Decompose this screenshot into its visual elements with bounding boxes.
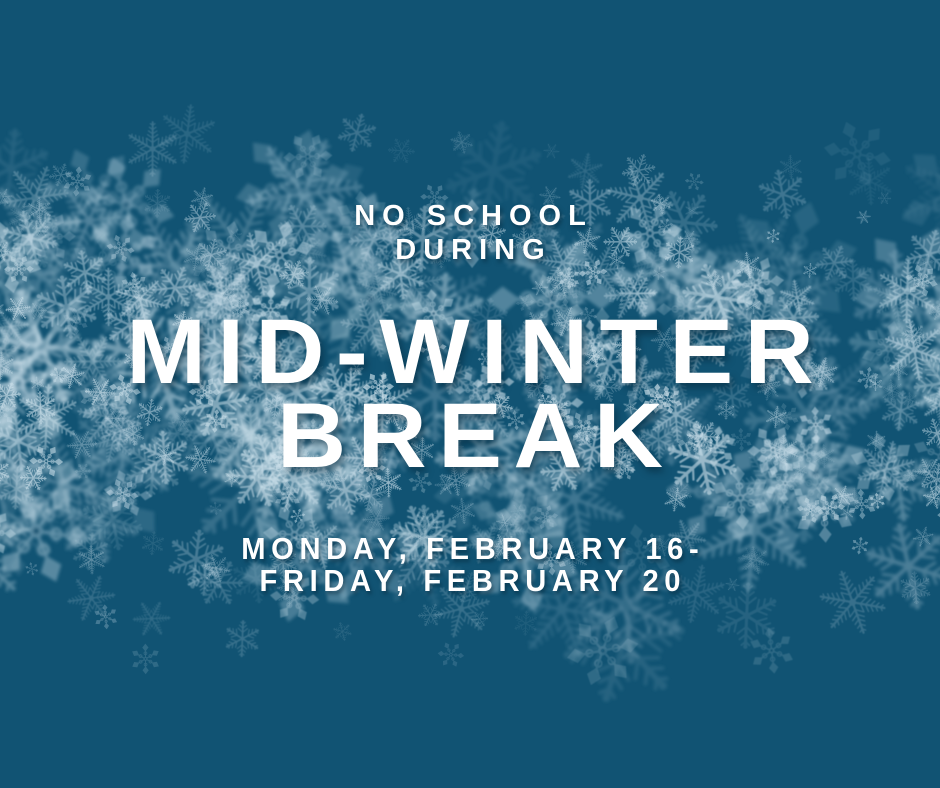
mid-winter-break-poster: NO SCHOOL DURING MID-WINTER BREAK MONDAY… xyxy=(0,0,940,788)
kicker-line-2: DURING xyxy=(0,233,940,267)
date-range-line-2: FRIDAY, FEBRUARY 20 xyxy=(28,564,912,597)
kicker-line-1: NO SCHOOL xyxy=(0,199,940,233)
headline-line-2: BREAK xyxy=(0,390,940,482)
poster-text-stack: NO SCHOOL DURING MID-WINTER BREAK MONDAY… xyxy=(0,0,940,788)
date-range-line-1: MONDAY, FEBRUARY 16- xyxy=(28,532,912,565)
